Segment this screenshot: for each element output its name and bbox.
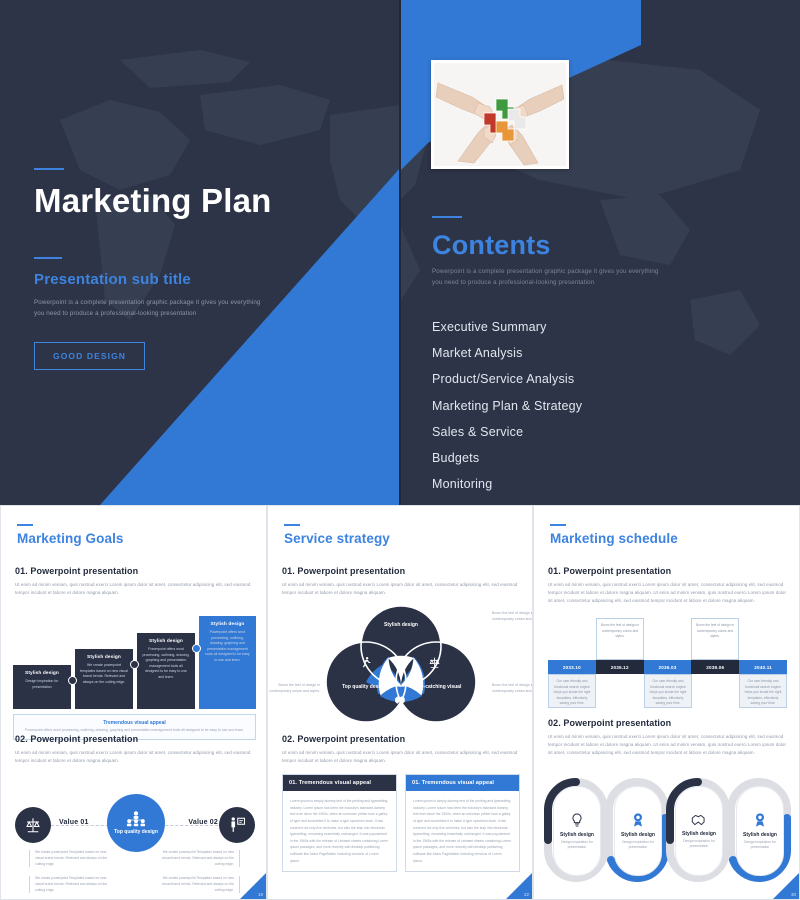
slide1-accent-rule xyxy=(17,524,33,526)
step-card-3[interactable]: Stylish design Powerpoint offers word pr… xyxy=(137,633,195,709)
step-connector-knob-3 xyxy=(192,644,201,653)
slide3-title: Marketing schedule xyxy=(550,532,678,546)
venn-annotation-2: Boom the feel of design in contemporary … xyxy=(267,682,320,694)
slide2-section2: 02. Powerpoint presentation Ut enim ad m… xyxy=(282,734,520,765)
slide-divider xyxy=(399,0,401,505)
value-01-note-1: We create powerpoint Templates based on … xyxy=(29,850,115,867)
venn-left-label: Top quality design xyxy=(338,684,390,691)
presenter-icon xyxy=(228,816,246,834)
chip-4-body: Design inspiration for presentation xyxy=(737,840,783,851)
chip-1[interactable]: Stylish design Design inspiration for pr… xyxy=(544,778,608,882)
slide1-title: Marketing Goals xyxy=(17,532,124,546)
good-design-button[interactable]: GOOD DESIGN xyxy=(34,342,145,370)
scales-icon xyxy=(24,816,42,834)
chip-group: Stylish design Design inspiration for pr… xyxy=(544,778,791,888)
step-chart: Stylish design Design inspiration for pr… xyxy=(13,614,256,709)
appeal-card-group: 01. Tremendous visual appeal Lorem ipsum… xyxy=(282,774,520,872)
step-card-2-title: Stylish design xyxy=(80,655,128,660)
handshake-icon xyxy=(691,813,708,827)
slide1-page-number: 19 xyxy=(258,892,263,897)
title-accent-rule xyxy=(34,168,64,170)
slide2-header: Service strategy xyxy=(284,524,390,546)
venn-annotation-1: Boom the feel of design in contemporary … xyxy=(492,610,533,622)
value-02-icon-circle xyxy=(219,807,255,843)
page-title: Marketing Plan xyxy=(34,184,364,217)
step-card-4-body: Powerpoint offers word processing, outli… xyxy=(204,630,251,664)
slide2-section2-heading: 02. Powerpoint presentation xyxy=(282,734,520,744)
slide-marketing-schedule[interactable]: Marketing schedule 01. Powerpoint presen… xyxy=(533,505,800,900)
value-01-label: Value 01 xyxy=(59,819,89,826)
contents-item-marketing-plan-strategy[interactable]: Marketing Plan & Strategy xyxy=(432,399,782,413)
chip-3[interactable]: Stylish design Design inspiration for pr… xyxy=(666,778,730,882)
step-connector-knob-1 xyxy=(68,676,77,685)
org-chart-icon xyxy=(126,811,146,827)
step-card-4-title: Stylish design xyxy=(204,622,251,627)
slide-marketing-goals[interactable]: Marketing Goals 01. Powerpoint presentat… xyxy=(0,505,267,900)
slide3-accent-rule xyxy=(550,524,566,526)
step-card-1[interactable]: Stylish design Design inspiration for pr… xyxy=(13,665,71,709)
timeline-note-down-2: Our user-friendly and functional search … xyxy=(644,674,692,708)
slide2-accent-rule xyxy=(284,524,300,526)
lightbulb-icon xyxy=(569,812,585,828)
value-02-note-1: We create powerpoint Templates based on … xyxy=(154,850,240,867)
value-01-icon-circle xyxy=(15,807,51,843)
award-ribbon-icon xyxy=(752,812,768,828)
handshake-icon xyxy=(394,694,408,706)
chip-2-body: Design inspiration for presentation xyxy=(615,840,661,851)
chip-3-title: Stylish design xyxy=(682,831,716,837)
slide2-section2-body: Ut enim ad minim veniam, quis nostrud ex… xyxy=(282,749,520,765)
value-diagram: Value 01 We create powerpoint Templates … xyxy=(1,778,267,898)
timeline: Our user-friendly and functional search … xyxy=(548,618,787,708)
slide3-section2-body: Ut enim ad minim veniam, quis nostrud ex… xyxy=(548,733,788,757)
slide2-section1-body: Ut enim ad minim veniam, quis nostrud ex… xyxy=(282,581,520,597)
step-card-2-body: We create powerpoint templates based on … xyxy=(80,663,128,685)
presentation-preview-page: Marketing Plan Presentation sub title Po… xyxy=(0,0,800,900)
slide3-section2-heading: 02. Powerpoint presentation xyxy=(548,718,788,728)
scales-icon xyxy=(428,656,441,669)
slide3-section1: 01. Powerpoint presentation Ut enim ad m… xyxy=(548,566,788,605)
slide2-page-number: 22 xyxy=(524,892,529,897)
hero-subtitle: Presentation sub title xyxy=(34,271,364,288)
timeline-note-down-1: Our user-friendly and functional search … xyxy=(548,674,596,708)
hero-left-content: Marketing Plan Presentation sub title Po… xyxy=(34,168,364,370)
slide3-header: Marketing schedule xyxy=(550,524,678,546)
step-card-2[interactable]: Stylish design We create powerpoint temp… xyxy=(75,649,133,709)
venn-diagram: Stylish design Top quality design Eye-ca… xyxy=(318,606,484,722)
slide2-title: Service strategy xyxy=(284,532,390,546)
slide2-section1-heading: 01. Powerpoint presentation xyxy=(282,566,520,576)
venn-annotation-3: Boom the feel of design in contemporary … xyxy=(492,682,533,694)
contents-description: Powerpoint is a complete presentation gr… xyxy=(432,267,660,289)
slide3-section2: 02. Powerpoint presentation Ut enim ad m… xyxy=(548,718,788,757)
step-card-3-body: Powerpoint offers word processing, outli… xyxy=(142,647,190,681)
subtitle-accent-rule xyxy=(34,257,62,259)
contents-item-product-service-analysis[interactable]: Product/Service Analysis xyxy=(432,372,782,386)
slide3-section1-heading: 01. Powerpoint presentation xyxy=(548,566,788,576)
value-01-note-2: We create powerpoint Templates based on … xyxy=(29,876,115,893)
slide-thumbnail-row: Marketing Goals 01. Powerpoint presentat… xyxy=(0,505,800,900)
top-quality-design-circle[interactable]: Top quality design xyxy=(107,794,165,852)
slide2-section1: 01. Powerpoint presentation Ut enim ad m… xyxy=(282,566,520,597)
step-card-4[interactable]: Stylish design Powerpoint offers word pr… xyxy=(199,616,256,709)
contents-item-market-analysis[interactable]: Market Analysis xyxy=(432,346,782,360)
contents-title: Contents xyxy=(432,232,782,259)
banner-title: Tremendous visual appeal xyxy=(22,720,247,726)
venn-top-label: Stylish design xyxy=(372,622,430,628)
timeline-note-up-1: Boom the feel of design in contemporary … xyxy=(596,618,644,660)
timeline-note-down-3: Our user-friendly and functional search … xyxy=(739,674,787,708)
slide1-header: Marketing Goals xyxy=(17,524,124,546)
contents-list: Executive Summary Market Analysis Produc… xyxy=(432,320,782,492)
timeline-date-5[interactable]: 2040.11 xyxy=(739,660,787,674)
chip-4-title: Stylish design xyxy=(743,832,777,838)
banner-body: Powerpoint offers word processing, outli… xyxy=(22,728,247,734)
step-card-1-title: Stylish design xyxy=(18,671,66,676)
timeline-date-4[interactable]: 2038.06 xyxy=(691,660,739,674)
contents-item-monitoring[interactable]: Monitoring xyxy=(432,477,782,491)
slide1-section1-body: Ut enim ad minim veniam, quis nostrud ex… xyxy=(15,581,255,597)
step-connector-knob-2 xyxy=(130,660,139,669)
hero-right-content: Contents Powerpoint is a complete presen… xyxy=(432,216,782,504)
teamwork-puzzle-photo xyxy=(431,60,569,169)
slide3-section1-body: Ut enim ad minim veniam, quis nostrud ex… xyxy=(548,581,788,605)
timeline-note-up-2: Boom the feel of design in contemporary … xyxy=(691,618,739,660)
running-icon xyxy=(359,656,372,669)
step-card-3-title: Stylish design xyxy=(142,639,190,644)
chip-3-inner: Stylish design Design inspiration for pr… xyxy=(675,786,723,876)
appeal-card-accent-heading: 01. Tremendous visual appeal xyxy=(406,775,519,791)
contents-item-budgets[interactable]: Budgets xyxy=(432,451,782,465)
appeal-card-accent[interactable]: 01. Tremendous visual appeal Lorem ipsum… xyxy=(405,774,520,872)
appeal-card-dark-heading: 01. Tremendous visual appeal xyxy=(283,775,396,791)
venn-right-label: Eye-catching visual xyxy=(412,684,464,691)
slide3-page-number: 30 xyxy=(791,892,796,897)
award-ribbon-icon xyxy=(630,812,646,828)
value-02-label: Value 02 xyxy=(188,819,218,826)
contents-item-executive-summary[interactable]: Executive Summary xyxy=(432,320,782,334)
chip-2-title: Stylish design xyxy=(621,832,655,838)
chip-4-inner: Stylish design Design inspiration for pr… xyxy=(736,786,784,876)
slide1-section1-heading: 01. Powerpoint presentation xyxy=(15,566,255,576)
contents-accent-rule xyxy=(432,216,462,218)
appeal-card-dark[interactable]: 01. Tremendous visual appeal Lorem ipsum… xyxy=(282,774,397,872)
chip-1-inner: Stylish design Design inspiration for pr… xyxy=(553,786,601,876)
appeal-card-dark-body: Lorem ipsum is simply dummy text of the … xyxy=(283,791,396,871)
chip-4[interactable]: Stylish design Design inspiration for pr… xyxy=(727,778,791,882)
step-card-1-body: Design inspiration for presentation xyxy=(18,679,66,690)
slide1-section2-body: Ut enim ad minim veniam, quis nostrud ex… xyxy=(15,749,255,765)
timeline-date-1[interactable]: 2033.10 xyxy=(548,660,596,674)
slide-service-strategy[interactable]: Service strategy 01. Powerpoint presenta… xyxy=(267,505,533,900)
hero-description: Powerpoint is a complete presentation gr… xyxy=(34,298,264,320)
chip-2[interactable]: Stylish design Design inspiration for pr… xyxy=(605,778,669,882)
timeline-date-2[interactable]: 2035.12 xyxy=(596,660,644,674)
slide1-section2: 02. Powerpoint presentation Ut enim ad m… xyxy=(15,734,255,765)
timeline-date-3[interactable]: 2036.03 xyxy=(644,660,692,674)
timeline-date-bar: 2033.10 2035.12 2036.03 2038.06 2040.11 xyxy=(548,660,787,674)
appeal-card-accent-body: Lorem ipsum is simply dummy text of the … xyxy=(406,791,519,871)
chip-2-inner: Stylish design Design inspiration for pr… xyxy=(614,786,662,876)
chip-3-body: Design inspiration for presentation xyxy=(676,839,722,850)
top-quality-design-label: Top quality design xyxy=(114,829,158,836)
chip-1-body: Design inspiration for presentation xyxy=(554,840,600,851)
value-02-note-2: We create powerpoint Templates based on … xyxy=(154,876,240,893)
slide1-section2-heading: 02. Powerpoint presentation xyxy=(15,734,255,744)
slide1-section1: 01. Powerpoint presentation Ut enim ad m… xyxy=(15,566,255,597)
chip-1-title: Stylish design xyxy=(560,832,594,838)
contents-item-sales-service[interactable]: Sales & Service xyxy=(432,425,782,439)
hero-section: Marketing Plan Presentation sub title Po… xyxy=(0,0,800,505)
